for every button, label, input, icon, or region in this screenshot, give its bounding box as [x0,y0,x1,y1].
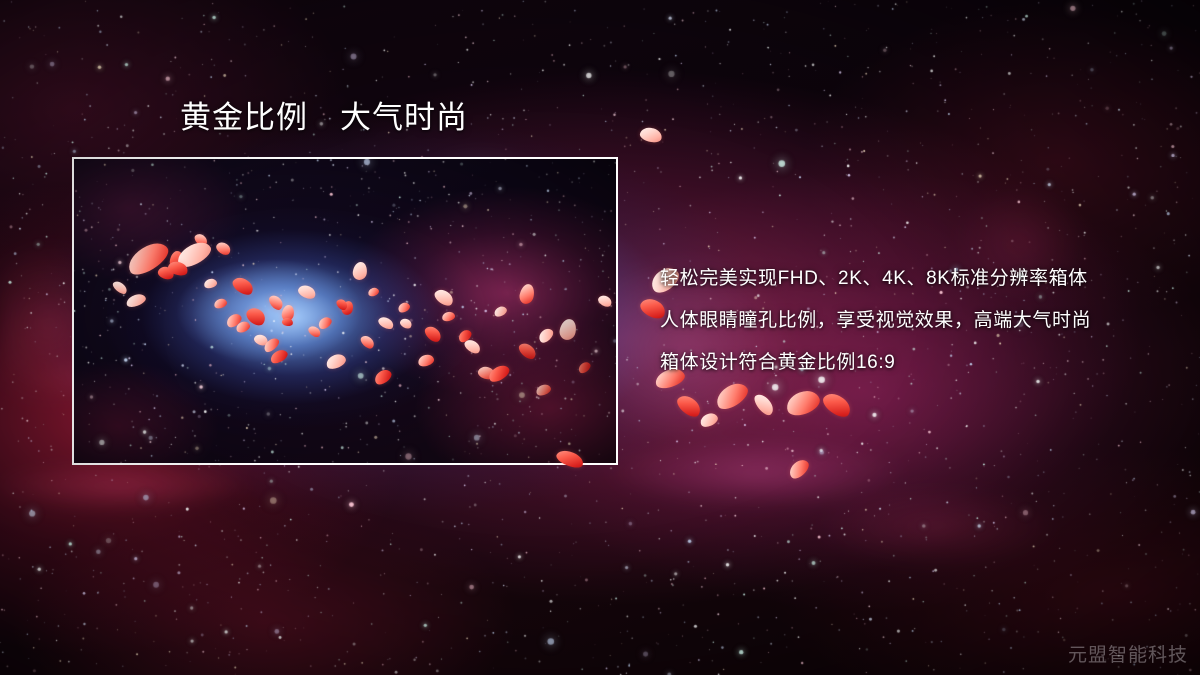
page-title: 黄金比例 大气时尚 [180,102,468,133]
body-line-2: 人体眼睛瞳孔比例，享受视觉效果，高端大气时尚 [660,300,1091,342]
petal [698,411,719,429]
body-text-block: 轻松完美实现FHD、2K、4K、8K标准分辨率箱体 人体眼睛瞳孔比例，享受视觉效… [660,258,1091,384]
petal [783,387,822,419]
petal [674,392,704,421]
watermark-label: 元盟智能科技 [1068,640,1188,667]
petal [639,126,664,145]
petal [786,456,812,481]
body-line-3: 箱体设计符合黄金比例16:9 [660,342,1091,384]
body-line-1: 轻松完美实现FHD、2K、4K、8K标准分辨率箱体 [660,258,1091,300]
slide-canvas: 黄金比例 大气时尚 轻松完美实现FHD、2K、4K、8K标准分辨率箱体 人体眼睛… [0,0,1200,675]
petal [820,389,855,421]
preview-image-frame[interactable] [72,157,618,465]
petal [751,391,776,418]
preview-vignette [74,159,616,463]
